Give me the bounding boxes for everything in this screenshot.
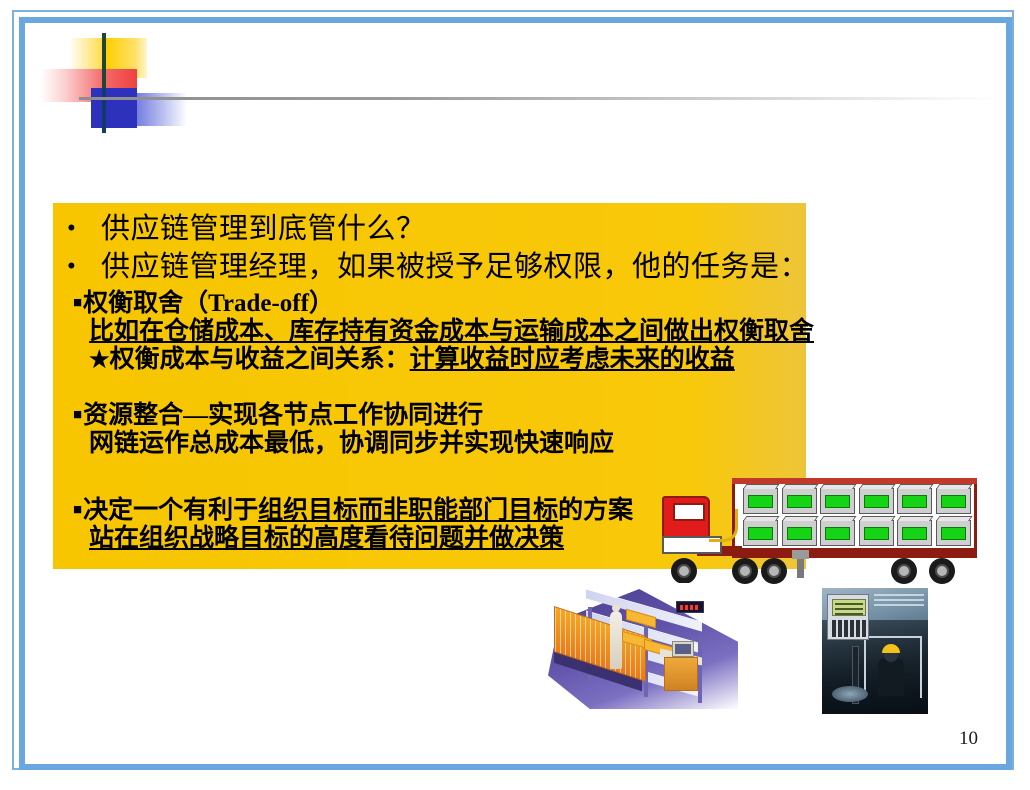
bullet-marker: •: [67, 216, 101, 241]
cargo-box: [936, 488, 971, 514]
cargo-box: [936, 520, 971, 546]
cargo-box: [820, 488, 855, 514]
square-bullet-icon: ■: [73, 408, 82, 423]
block-1-heading-text: 权衡取舍（Trade-off）: [83, 290, 334, 317]
cargo-box-panel: [902, 527, 927, 540]
workstation-monitor: [672, 641, 694, 657]
cargo-box-panel: [941, 527, 966, 540]
trailer-landing-gear: [797, 556, 804, 578]
warehouse-picking-illustration: [548, 583, 738, 715]
trailer-deck: [732, 548, 977, 558]
block-1-line-2: ★权衡成本与收益之间关系：计算收益时应考虑未来的收益: [53, 347, 806, 372]
terminal-screen: [832, 599, 866, 616]
vehicle-terminal-device: [827, 594, 869, 640]
warehouse-worker: [610, 611, 622, 669]
cargo-box-panel: [748, 495, 773, 508]
bullet-text: 供应链管理经理，如果被授予足够权限，他的任务是：: [101, 251, 809, 283]
block-3-heading-lead: 决定一个有利于: [83, 497, 258, 524]
cargo-box-panel: [902, 495, 927, 508]
cargo-row: [743, 520, 971, 546]
shelf-post: [698, 637, 702, 703]
led-display: [676, 601, 704, 613]
cargo-box-panel: [825, 495, 850, 508]
truck-wheel: [891, 558, 917, 584]
forklift-driver-body: [878, 658, 904, 696]
block-2-line-1: 网链运作总成本最低，协调同步并实现快速响应: [53, 431, 806, 456]
cargo-box-panel: [864, 495, 889, 508]
block-3-heading-underlined: 组织目标而非职能部门目标: [258, 497, 558, 524]
cargo-box: [820, 520, 855, 546]
bullet-line-1: •供应链管理到底管什么？: [53, 215, 806, 244]
cargo-box: [859, 488, 894, 514]
cargo-boxes: [743, 488, 971, 546]
truck-wheel: [732, 558, 758, 584]
bullet-text: 供应链管理到底管什么？: [101, 213, 426, 245]
brochure-logo-badge: [832, 686, 868, 702]
cargo-box-panel: [787, 527, 812, 540]
block-1-line-1: 比如在仓储成本、库存持有资金成本与运输成本之间做出权衡取舍: [53, 319, 806, 344]
cargo-box: [743, 520, 778, 546]
cargo-box: [897, 488, 932, 514]
bullet-line-2: •供应链管理经理，如果被授予足够权限，他的任务是：: [53, 253, 806, 282]
bullet-marker: •: [67, 254, 101, 279]
block-1-line-2-text: 计算收益时应考虑未来的收益: [410, 346, 735, 373]
cargo-box-panel: [787, 495, 812, 508]
cargo-box-panel: [748, 527, 773, 540]
star-icon: ★: [89, 347, 110, 372]
square-bullet-icon: ■: [73, 296, 82, 311]
terminal-keypad: [832, 620, 866, 637]
cab-window: [673, 503, 705, 521]
cargo-box-panel: [864, 527, 889, 540]
brochure-caption-text: [874, 594, 924, 608]
block-1-heading: ■权衡取舍（Trade-off）: [53, 291, 806, 316]
block-2-heading-text: 资源整合—实现各节点工作协同进行: [83, 402, 483, 429]
spacer: [53, 372, 806, 399]
slide-canvas: •供应链管理到底管什么？ •供应链管理经理，如果被授予足够权限，他的任务是： ■…: [0, 0, 1030, 790]
cargo-box: [897, 520, 932, 546]
workstation-desk: [664, 657, 698, 691]
semi-truck-illustration: [657, 474, 987, 599]
square-bullet-icon: ■: [73, 503, 82, 518]
cargo-box: [782, 520, 817, 546]
block-2-heading: ■资源整合—实现各节点工作协同进行: [53, 403, 806, 428]
cargo-row: [743, 488, 971, 514]
truck-wheel: [671, 558, 697, 584]
cargo-box: [782, 488, 817, 514]
forklift-terminal-brochure: [816, 586, 934, 718]
cargo-box: [859, 520, 894, 546]
cargo-box-panel: [825, 527, 850, 540]
block-3-heading-tail: 的方案: [558, 497, 633, 524]
block-1-line-2-lead: 权衡成本与收益之间关系：: [110, 346, 410, 373]
air-hose: [709, 509, 738, 542]
truck-wheel: [929, 558, 955, 584]
cargo-box-panel: [941, 495, 966, 508]
page-number: 10: [959, 728, 978, 750]
cargo-box: [743, 488, 778, 514]
truck-wheel: [761, 558, 787, 584]
